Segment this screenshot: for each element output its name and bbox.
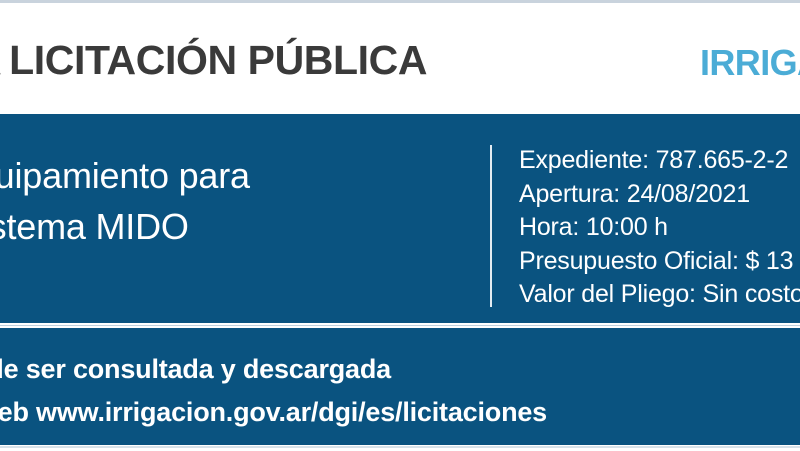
tender-subject-line: nes, Sistema MIDO bbox=[0, 201, 460, 252]
column-divider bbox=[490, 145, 492, 307]
tender-subject-line: 21 bbox=[0, 252, 460, 303]
panel-separator-line bbox=[0, 325, 800, 326]
detail-presupuesto-oficial: Presupuesto Oficial: $ 13 bbox=[519, 245, 800, 279]
detail-valor-pliego: Valor del Pliego: Sin costo bbox=[519, 278, 800, 312]
tender-announcement-poster: DO A LICITACIÓN PÚBLICA IRRIGA ción equi… bbox=[0, 0, 800, 451]
page-title-emphasis: LICITACIÓN PÚBLICA bbox=[9, 37, 427, 83]
brand-logo-text: IRRIGA bbox=[700, 41, 800, 85]
bottom-divider-line bbox=[0, 446, 800, 448]
tender-subject-line: ción equipamiento para bbox=[0, 150, 460, 201]
footer-note-line: ón puede ser consultada y descargada bbox=[0, 348, 800, 391]
footer-note-lead: ágina web bbox=[0, 397, 36, 427]
detail-hora: Hora: 10:00 h bbox=[519, 211, 800, 245]
footer-note: ón puede ser consultada y descargada ági… bbox=[0, 348, 800, 434]
page-title: DO A LICITACIÓN PÚBLICA bbox=[0, 35, 427, 85]
detail-apertura: Apertura: 24/08/2021 bbox=[519, 178, 800, 212]
website-url[interactable]: www.irrigacion.gov.ar/dgi/es/licitacione… bbox=[36, 397, 547, 427]
footer-note-line-website: ágina web www.irrigacion.gov.ar/dgi/es/l… bbox=[0, 391, 800, 434]
tender-details-list: Expediente: 787.665-2-2 Apertura: 24/08/… bbox=[519, 144, 800, 312]
footer-info-panel: ón puede ser consultada y descargada ági… bbox=[0, 328, 800, 445]
header-band: DO A LICITACIÓN PÚBLICA IRRIGA bbox=[0, 3, 800, 114]
detail-expediente: Expediente: 787.665-2-2 bbox=[519, 144, 800, 178]
main-info-panel: ción equipamiento para nes, Sistema MIDO… bbox=[0, 114, 800, 323]
page-title-prefix: DO A bbox=[0, 37, 9, 83]
tender-subject-title: ción equipamiento para nes, Sistema MIDO… bbox=[0, 150, 460, 303]
